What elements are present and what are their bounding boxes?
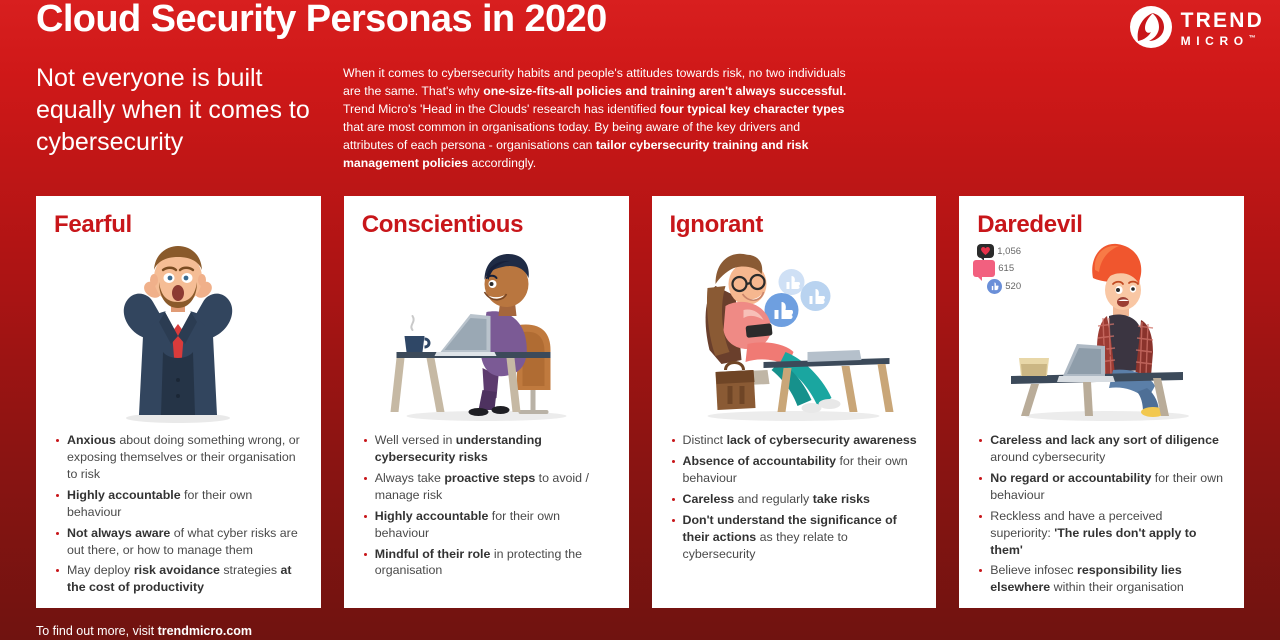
illustration-ignorant	[670, 240, 919, 430]
illustration-daredevil	[977, 240, 1226, 430]
card-title: Fearful	[54, 212, 303, 238]
logo-wordmark: TREND MICRO™	[1181, 8, 1264, 47]
logo-line-trend: TREND	[1181, 10, 1264, 31]
header: Cloud Security Personas in 2020 Not ever…	[0, 0, 1280, 186]
bullet-list: Well versed in understanding cybersecuri…	[362, 432, 611, 579]
card-title: Conscientious	[362, 212, 611, 238]
bullet-item: Well versed in understanding cybersecuri…	[362, 432, 611, 466]
bullet-list: Careless and lack any sort of diligence …	[977, 432, 1226, 596]
bullet-item: Highly accountable for their own behavio…	[54, 487, 303, 521]
logo-line-micro: MICRO™	[1181, 35, 1264, 47]
bullet-item: Mindful of their role in protecting the …	[362, 546, 611, 580]
bullet-item: Highly accountable for their own behavio…	[362, 508, 611, 542]
persona-card-ignorant[interactable]: Ignorant	[652, 196, 937, 608]
illustration-conscientious	[362, 240, 611, 430]
card-title: Ignorant	[670, 212, 919, 238]
bullet-item: Absence of accountability for their own …	[670, 453, 919, 487]
persona-card-daredevil[interactable]: Daredevil 1,056 615 520	[959, 196, 1244, 608]
logo-swoosh-icon	[1136, 11, 1166, 43]
persona-cards: Fearful	[0, 196, 1280, 608]
bullet-item: Distinct lack of cybersecurity awareness	[670, 432, 919, 449]
card-title: Daredevil	[977, 212, 1226, 238]
bullet-item: Careless and regularly take risks	[670, 491, 919, 508]
bullet-list: Distinct lack of cybersecurity awareness…	[670, 432, 919, 562]
bullet-item: No regard or accountability for their ow…	[977, 470, 1226, 504]
page-title: Cloud Security Personas in 2020	[36, 0, 607, 41]
bullet-item: Reckless and have a perceived superiorit…	[977, 508, 1226, 559]
illustration-fearful	[54, 240, 303, 430]
bullet-item: Anxious about doing something wrong, or …	[54, 432, 303, 483]
header-subtitle: Not everyone is built equally when it co…	[36, 62, 336, 158]
header-intro-paragraph: When it comes to cybersecurity habits an…	[343, 64, 853, 172]
bullet-item: Believe infosec responsibility lies else…	[977, 562, 1226, 596]
bullet-list: Anxious about doing something wrong, or …	[54, 432, 303, 596]
bullet-item: Careless and lack any sort of diligence …	[977, 432, 1226, 466]
trend-micro-logo: TREND MICRO™	[1130, 6, 1264, 48]
bullet-item: Always take proactive steps to avoid / m…	[362, 470, 611, 504]
persona-card-fearful[interactable]: Fearful	[36, 196, 321, 608]
persona-card-conscientious[interactable]: Conscientious	[344, 196, 629, 608]
bullet-item: Not always aware of what cyber risks are…	[54, 525, 303, 559]
trademark-symbol: ™	[1249, 35, 1256, 42]
bullet-item: May deploy risk avoidance strategies at …	[54, 562, 303, 596]
trend-micro-logo-mark	[1130, 6, 1172, 48]
bullet-item: Don't understand the significance of the…	[670, 512, 919, 563]
footer-link[interactable]: To find out more, visit trendmicro.com	[36, 624, 252, 638]
